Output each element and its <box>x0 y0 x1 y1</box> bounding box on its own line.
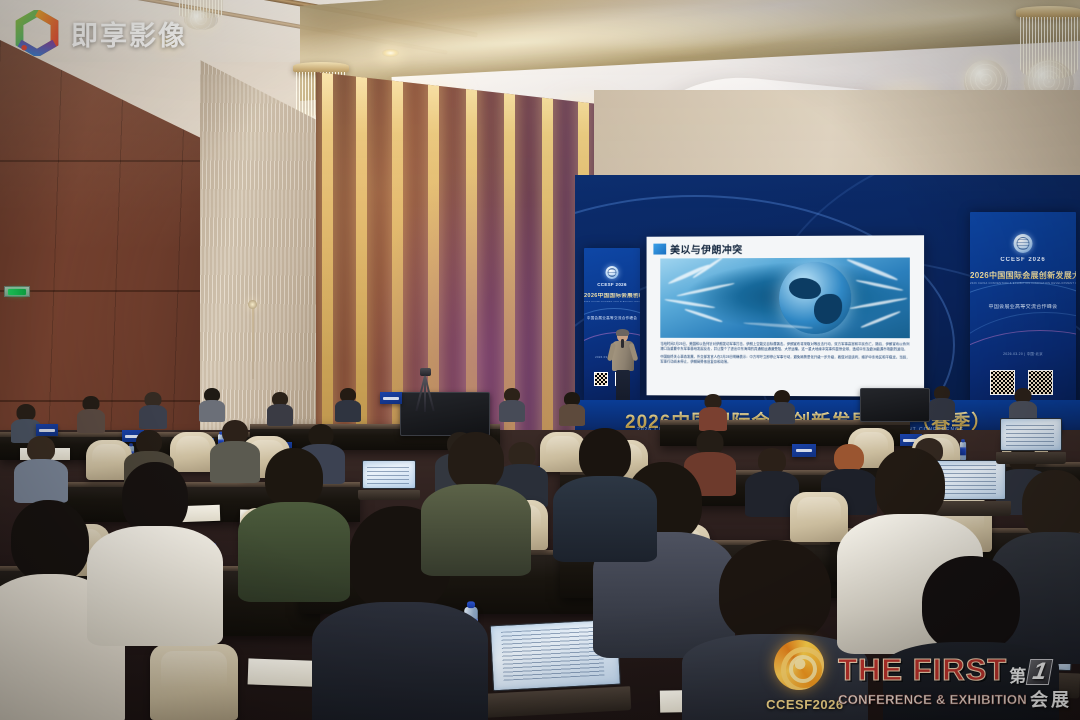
attendee-body <box>929 398 955 420</box>
attendee-foreground <box>100 462 210 642</box>
slide-image <box>660 258 910 339</box>
attendee-body <box>199 400 225 422</box>
watermark: 即享影像 <box>14 10 187 56</box>
the-first-text: THE FIRST <box>838 655 1007 685</box>
attendee <box>560 392 584 424</box>
stage-speaker <box>611 330 635 406</box>
qr-pattern <box>595 373 607 385</box>
attendee-body <box>699 407 727 431</box>
slide-title: 美以与伊朗冲突 <box>670 241 743 256</box>
event-brand-line2: CONFERENCE & EXHIBITION 会展 <box>838 686 1072 712</box>
laptop-keyboard <box>996 452 1067 464</box>
hexagon-rainbow-logo-icon <box>14 10 60 56</box>
globe-graphic-icon <box>779 262 851 334</box>
globe-icon <box>606 266 619 279</box>
attendee-head <box>719 540 831 644</box>
attendee-body <box>553 476 657 562</box>
right-banner-subtitle: 中国会展业高等交流合作峰会 <box>970 304 1076 310</box>
attendee-body <box>421 484 531 576</box>
event-logo: CCESF2026 <box>766 640 832 714</box>
wall-sconce-icon <box>248 300 257 309</box>
attendee <box>930 386 954 418</box>
slide-body: 当地时间2月26日，美国和以色列针对伊朗发动军事打击，伊朗上空能见目标遭袭击。伊… <box>660 342 912 368</box>
globe-icon <box>1014 234 1033 253</box>
attendee-body <box>87 526 223 646</box>
left-banner-subtitle: 中国会展业高等交流合作峰会 <box>584 316 640 320</box>
event-brand-line1: THE FIRST 第 1 <box>838 655 1072 685</box>
event-brand-text: THE FIRST 第 1 CONFERENCE & EXHIBITION 会展 <box>838 655 1072 714</box>
attendee-body <box>312 602 488 720</box>
slide-accent-block <box>653 244 666 255</box>
attendee-body <box>139 405 167 429</box>
number-one-badge: 1 <box>1026 659 1054 685</box>
slide-bullet: 中国始终关心事态发展，外交部发言人在2月28日明确表示：中方呼吁立即停止军事行动… <box>660 354 912 365</box>
wall-seam <box>0 400 212 402</box>
chair <box>150 644 238 720</box>
name-tent-card <box>380 392 402 404</box>
right-banner-title-en: 2026 CHINA CONVENTION & EXHIBITION INNOV… <box>970 282 1076 285</box>
di-character: 第 <box>1009 668 1026 685</box>
attendee-foreground <box>246 448 342 598</box>
left-banner-brand: CCESF 2026 <box>584 282 640 288</box>
attendee <box>700 394 726 428</box>
wall-sconce-stem <box>252 309 254 379</box>
attendee-body <box>499 400 525 422</box>
slide-bullet: 当地时间2月26日，美国和以色列针对伊朗发动军事打击，伊朗上空能见目标遭袭击。伊… <box>660 342 912 353</box>
chandelier-crystal-ball <box>184 10 218 30</box>
laptop-keyboard <box>358 490 420 500</box>
attendee-foreground <box>428 432 524 572</box>
attendee-body <box>335 400 361 422</box>
attendee-head <box>265 448 323 508</box>
confidence-monitor <box>400 392 490 436</box>
left-banner-title-en: 2026 CHINA CONVENTION & EXHIBITION INNOV… <box>584 301 640 304</box>
attendee <box>78 396 104 430</box>
attendee <box>770 390 794 422</box>
attendee-body <box>267 404 293 426</box>
right-rollup-banner: CCESF 2026 2026中国国际会展创新发展大会 2026 CHINA C… <box>970 212 1076 412</box>
attendee <box>18 436 64 496</box>
confidence-monitor <box>860 388 930 422</box>
attendee-body <box>769 402 795 424</box>
attendee-head <box>579 428 631 482</box>
attendee <box>268 392 292 424</box>
attendee-body <box>559 404 585 426</box>
attendee-foreground <box>560 428 650 558</box>
laptop-screen <box>362 460 416 489</box>
right-banner-brand: CCESF 2026 <box>970 257 1076 265</box>
attendee-head <box>1022 470 1080 540</box>
right-banner-meta: 2026.03.20 | 中国·北京 <box>970 352 1076 356</box>
huizhan-text: 会展 <box>1030 686 1072 712</box>
attendee-head <box>11 500 89 582</box>
attendee <box>500 388 524 420</box>
laptop-screen <box>1000 418 1062 451</box>
attendee-body <box>238 502 350 602</box>
speaker-hair <box>616 329 629 336</box>
exit-sign-glow <box>8 289 26 295</box>
name-tent-card <box>792 444 816 457</box>
attendee-head <box>122 462 188 534</box>
attendee-body <box>77 409 105 433</box>
attendee-head <box>922 556 1020 652</box>
event-brand-overlay: CCESF2026 THE FIRST 第 1 CONFERENCE & EXH… <box>766 640 1072 714</box>
attendee <box>336 388 360 420</box>
attendee-head <box>448 432 504 490</box>
attendee <box>200 388 224 420</box>
conference-exhibition-text: CONFERENCE & EXHIBITION <box>838 692 1027 707</box>
event-code: CCESF2026 <box>766 697 832 712</box>
attendee <box>1010 388 1036 422</box>
qr-code <box>594 372 608 386</box>
golden-spiral-icon <box>774 640 824 690</box>
laptop[interactable] <box>1000 418 1062 464</box>
wall-seam <box>0 160 212 162</box>
attendee <box>750 448 794 508</box>
microphone-icon <box>621 339 624 348</box>
conference-photo-scene: CCESF 2026 2026中国国际会展创新发展大会 2026 CHINA C… <box>0 0 1080 720</box>
right-banner-title: 2026中国国际会展创新发展大会 <box>970 271 1076 281</box>
chair <box>790 492 848 542</box>
laptop[interactable] <box>362 460 416 500</box>
emergency-exit-sign <box>4 286 30 297</box>
name-tent-card <box>36 424 58 436</box>
wall-seam <box>0 290 212 292</box>
attendee <box>140 392 166 426</box>
watermark-text: 即享影像 <box>71 14 187 53</box>
left-banner-title: 2026中国国际会展创新发展大会 <box>584 293 640 300</box>
presentation-screen: 美以与伊朗冲突 当地时间2月26日，美国和以色列针对伊朗发动军事打击，伊朗上空能… <box>647 235 925 397</box>
attendee-head <box>875 448 945 522</box>
attendee-body <box>14 459 68 503</box>
downlight <box>382 49 399 57</box>
camera-tripod <box>418 368 432 412</box>
